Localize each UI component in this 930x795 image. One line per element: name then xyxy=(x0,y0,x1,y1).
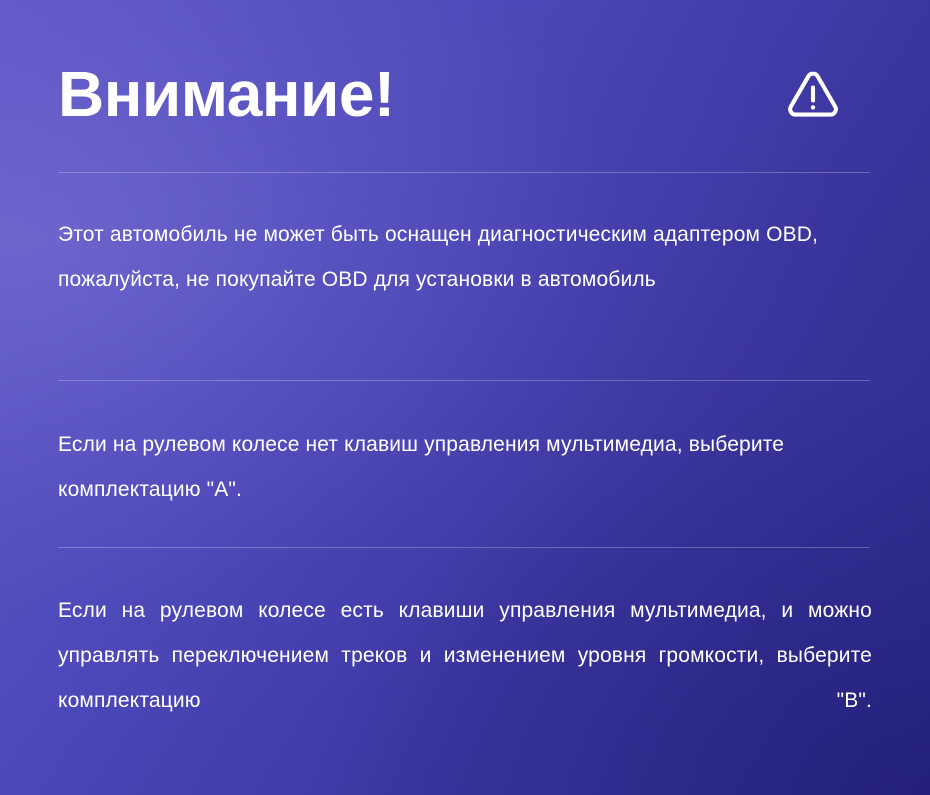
notice-paragraph-trim-b: Если на рулевом колесе есть клавиши упра… xyxy=(58,588,872,768)
divider xyxy=(58,172,870,173)
notice-header: Внимание! xyxy=(58,48,870,140)
warning-notice-card: Внимание! Этот автомобиль не может быть … xyxy=(0,0,930,795)
divider xyxy=(58,547,870,548)
warning-triangle-icon xyxy=(784,65,842,123)
divider xyxy=(58,380,870,381)
page-title: Внимание! xyxy=(58,57,395,131)
notice-paragraph-obd: Этот автомобиль не может быть оснащен ди… xyxy=(58,212,872,302)
notice-paragraph-trim-a: Если на рулевом колесе нет клавиш управл… xyxy=(58,422,872,512)
